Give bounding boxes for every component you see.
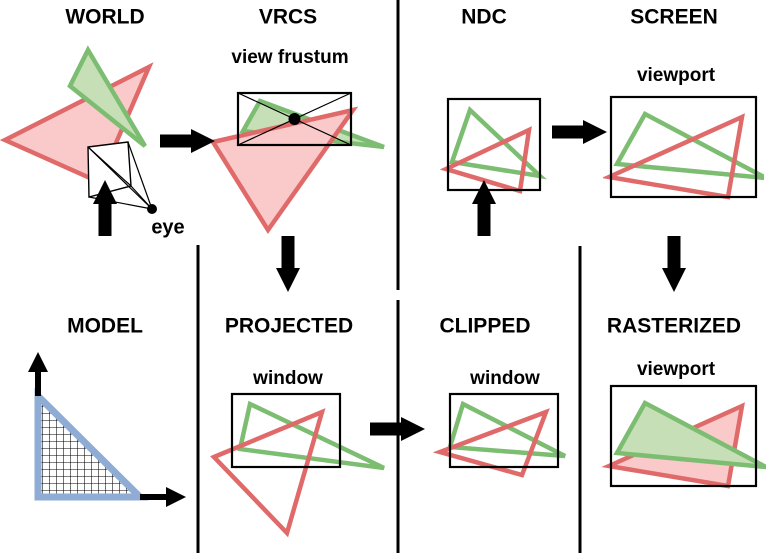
panel-title-ndc: NDC [461, 6, 507, 29]
eye-point-dot [147, 204, 157, 214]
diagram-root: WORLDVRCSview frustumNDCSCREENviewportMO… [0, 0, 766, 553]
panel-title-screen: SCREEN [630, 6, 718, 29]
panel-title-world: WORLD [65, 6, 144, 29]
panel-sublabel-screen: viewport [637, 65, 716, 86]
panel-sublabel-vrcs: view frustum [231, 47, 348, 68]
panel-title-clipped: CLIPPED [439, 315, 530, 338]
panel-title-projected: PROJECTED [225, 315, 353, 338]
panel-title-model: MODEL [67, 315, 143, 338]
panel-title-rasterized: RASTERIZED [607, 315, 741, 338]
panel-sublabel-rasterized: viewport [637, 359, 716, 380]
frustum-center-dot [289, 113, 301, 125]
panel-sublabel-projected: window [252, 368, 323, 389]
panel-sublabel-clipped: window [469, 368, 540, 389]
panel-title-vrcs: VRCS [259, 6, 317, 29]
eye-label: eye [151, 216, 184, 238]
pipeline-diagram-svg: WORLDVRCSview frustumNDCSCREENviewportMO… [0, 0, 766, 553]
